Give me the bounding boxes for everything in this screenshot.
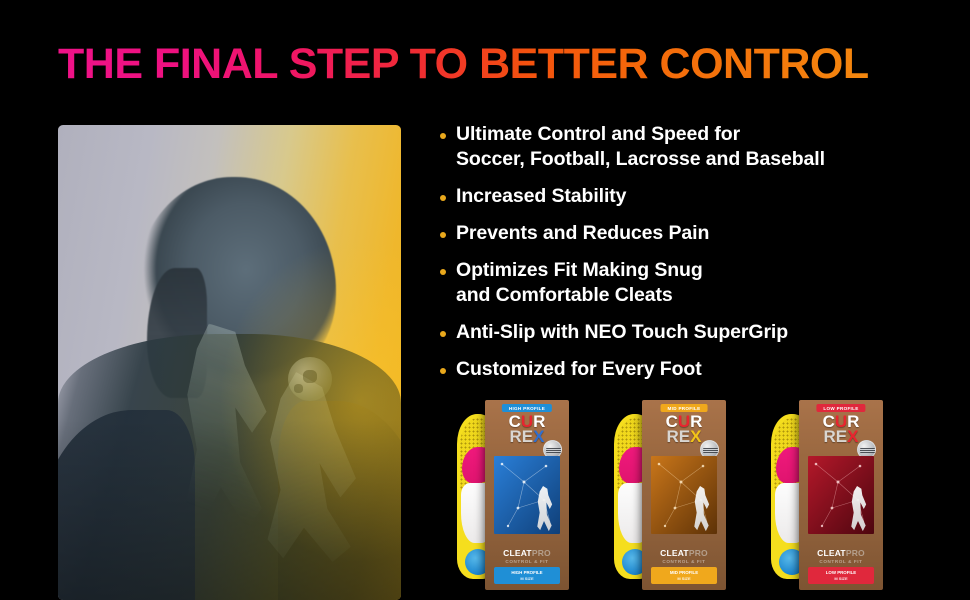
profile-tag-top: LOW PROFILE (816, 404, 865, 412)
feature-text: Prevents and Reduces Pain (456, 221, 709, 246)
list-item: Customized for Every Foot (440, 357, 960, 382)
profile-tag-bottom: HIGH PROFILE M SIZE (494, 567, 560, 584)
product-name: CLEATPRO (799, 548, 883, 558)
page-title: THE FINAL STEP TO BETTER CONTROL (58, 38, 948, 90)
product-graphic-panel (651, 456, 717, 534)
list-item: Ultimate Control and Speed for Soccer, F… (440, 122, 960, 172)
profile-tag-bottom: MID PROFILE M SIZE (651, 567, 717, 584)
profile-tag-label: HIGH PROFILE (509, 406, 545, 411)
bullet-dot-icon (440, 269, 446, 275)
list-item: Increased Stability (440, 184, 960, 209)
bullet-dot-icon (440, 133, 446, 139)
product-card-mid-profile[interactable]: MID PROFILE CUR REX (612, 400, 730, 590)
bullet-dot-icon (440, 232, 446, 238)
feature-list: Ultimate Control and Speed for Soccer, F… (440, 122, 960, 394)
product-graphic-panel (808, 456, 874, 534)
feature-text: Anti-Slip with NEO Touch SuperGrip (456, 320, 788, 345)
feature-text-line2: Soccer, Football, Lacrosse and Baseball (456, 148, 825, 170)
product-tagline: CONTROL & FIT (642, 559, 726, 564)
brand-logo: CUR REX (823, 414, 860, 444)
product-box[interactable]: LOW PROFILE CUR REX (799, 400, 883, 590)
feature-text-line2: and Comfortable Cleats (456, 284, 673, 306)
feature-text: Optimizes Fit Making Snug and Comfortabl… (456, 258, 703, 308)
product-card-low-profile[interactable]: LOW PROFILE CUR REX (769, 400, 887, 590)
product-name-block: CLEATPRO CONTROL & FIT (485, 548, 569, 564)
bottom-tag-size: M SIZE (494, 576, 560, 582)
feature-text-line1: Ultimate Control and Speed for (456, 123, 740, 145)
brand-logo-line2: REX (823, 429, 860, 444)
bullet-dot-icon (440, 195, 446, 201)
list-item: Prevents and Reduces Pain (440, 221, 960, 246)
product-name: CLEATPRO (642, 548, 726, 558)
feature-text: Customized for Every Foot (456, 357, 702, 382)
product-box[interactable]: HIGH PROFILE CUR REX (485, 400, 569, 590)
brand-logo-line2: REX (509, 429, 546, 444)
feature-text-line1: Optimizes Fit Making Snug (456, 259, 703, 281)
bullet-dot-icon (440, 368, 446, 374)
bottom-tag-size: M SIZE (808, 576, 874, 582)
bottom-tag-size: M SIZE (651, 576, 717, 582)
product-tagline: CONTROL & FIT (485, 559, 569, 564)
bullet-dot-icon (440, 331, 446, 337)
list-item: Optimizes Fit Making Snug and Comfortabl… (440, 258, 960, 308)
product-graphic-panel (494, 456, 560, 534)
list-item: Anti-Slip with NEO Touch SuperGrip (440, 320, 960, 345)
profile-tag-bottom: LOW PROFILE M SIZE (808, 567, 874, 584)
product-card-high-profile[interactable]: HIGH PROFILE CUR REX (455, 400, 573, 590)
product-row: HIGH PROFILE CUR REX (455, 400, 955, 590)
photo-composition (58, 125, 401, 600)
photo-vignette (58, 125, 401, 600)
feature-text: Increased Stability (456, 184, 626, 209)
brand-logo: CUR REX (666, 414, 703, 444)
profile-tag-label: LOW PROFILE (823, 406, 858, 411)
bottom-tag-label: MID PROFILE (670, 570, 698, 575)
feature-text: Ultimate Control and Speed for Soccer, F… (456, 122, 825, 172)
athlete-double-exposure-photo (58, 125, 401, 600)
profile-tag-top: HIGH PROFILE (502, 404, 552, 412)
product-name: CLEATPRO (485, 548, 569, 558)
product-tagline: CONTROL & FIT (799, 559, 883, 564)
profile-tag-label: MID PROFILE (668, 406, 701, 411)
profile-tag-top: MID PROFILE (661, 404, 708, 412)
brand-logo-line2: REX (666, 429, 703, 444)
bottom-tag-label: LOW PROFILE (826, 570, 857, 575)
bottom-tag-label: HIGH PROFILE (511, 570, 542, 575)
brand-logo: CUR REX (509, 414, 546, 444)
product-box[interactable]: MID PROFILE CUR REX (642, 400, 726, 590)
product-name-block: CLEATPRO CONTROL & FIT (642, 548, 726, 564)
product-name-block: CLEATPRO CONTROL & FIT (799, 548, 883, 564)
